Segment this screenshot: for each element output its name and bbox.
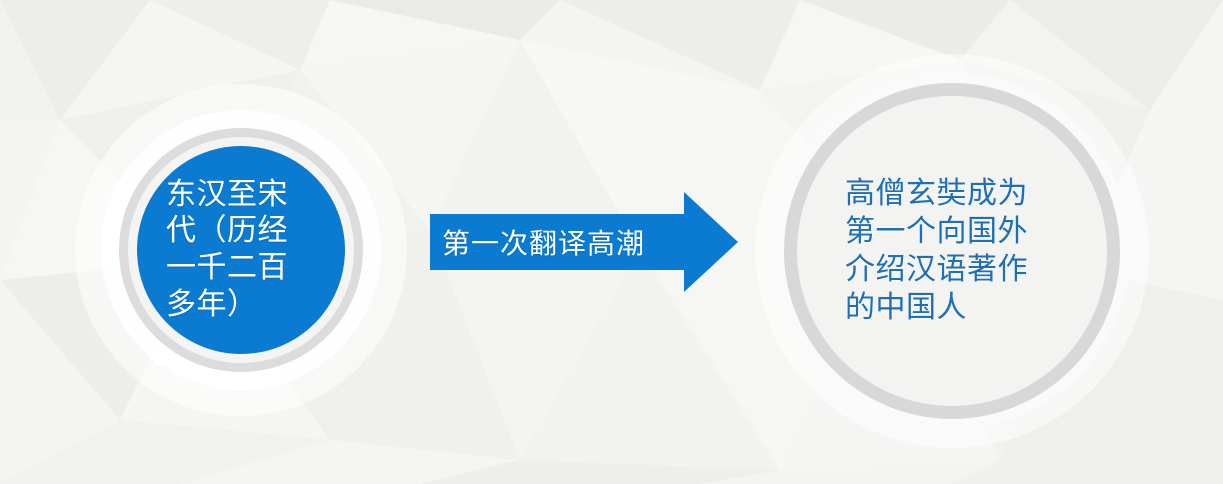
slide-canvas: 东汉至宋 代（历经 一千二百 多年） 第一次翻译高潮 高僧玄奘成为 第一个向国外… xyxy=(0,0,1223,484)
node-right-label: 高僧玄奘成为 第一个向国外 介绍汉语著作 的中国人 xyxy=(845,175,1059,326)
node-left-disc[interactable]: 东汉至宋 代（历经 一千二百 多年） xyxy=(137,146,345,354)
node-right-inner[interactable]: 高僧玄奘成为 第一个向国外 介绍汉语著作 的中国人 xyxy=(797,96,1107,406)
arrow-shape-icon xyxy=(428,190,740,294)
connector-arrow[interactable]: 第一次翻译高潮 xyxy=(428,190,740,294)
node-left-label: 东汉至宋 代（历经 一千二百 多年） xyxy=(166,177,316,323)
